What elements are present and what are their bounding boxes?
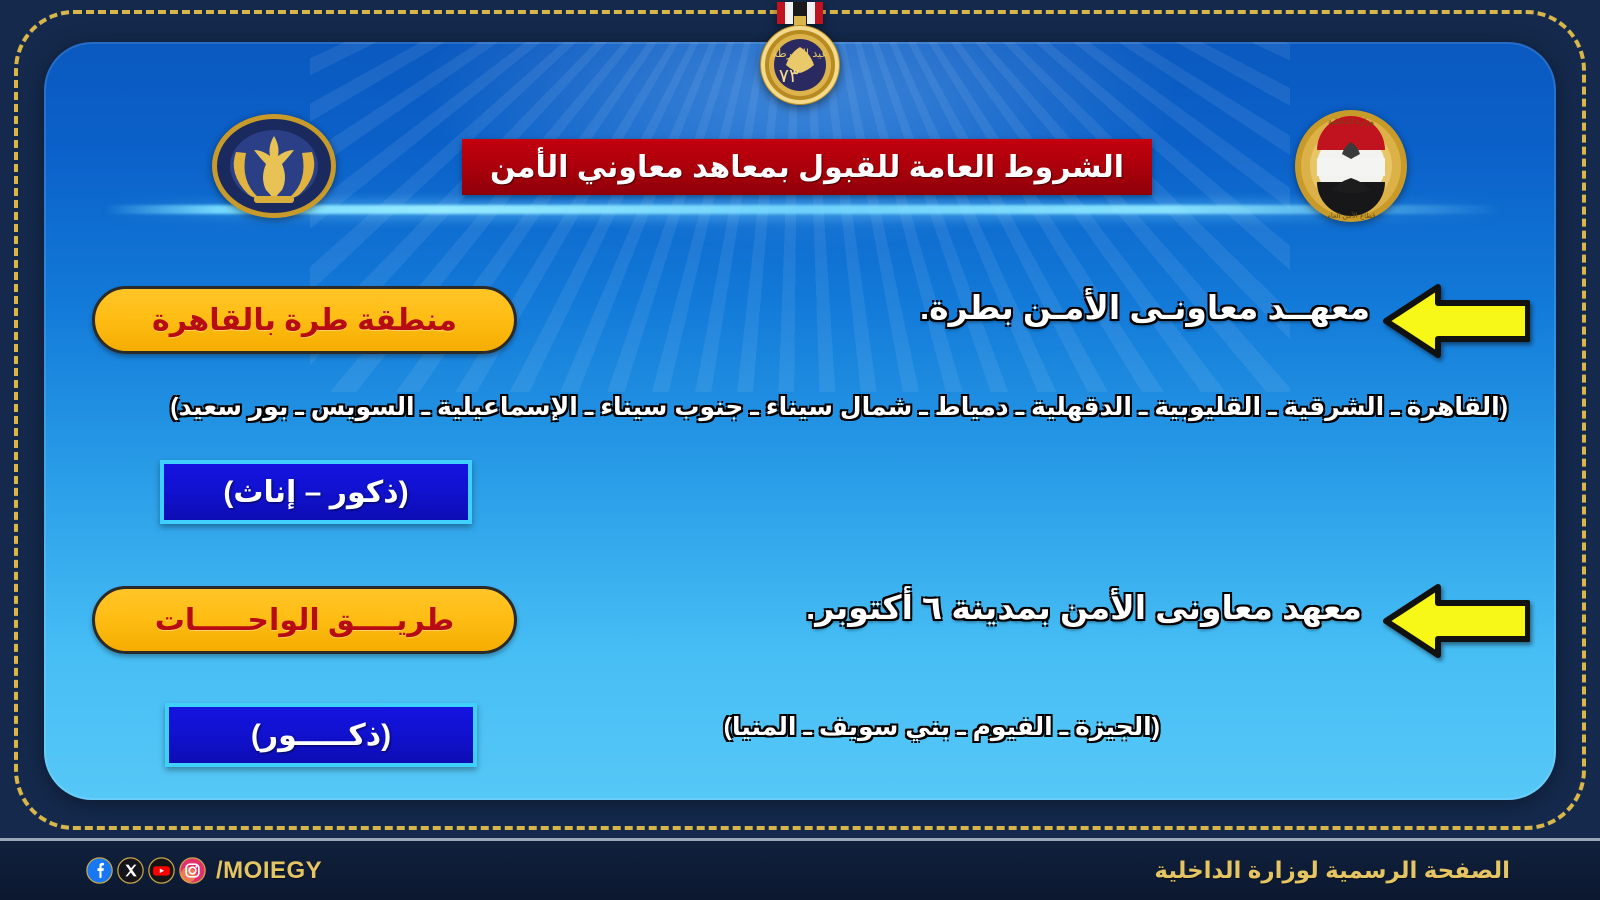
instagram-icon[interactable] <box>179 857 206 884</box>
main-title-banner: الشروط العامة للقبول بمعاهد معاوني الأمن <box>462 139 1152 195</box>
gender-badge-2-label: (ذكـــــور) <box>251 718 391 753</box>
svg-text:وزارة الداخلية: وزارة الداخلية <box>1328 117 1374 126</box>
youtube-icon[interactable] <box>148 857 175 884</box>
x-twitter-icon[interactable] <box>117 857 144 884</box>
governorates-2: (الجيزة ـ الفيوم ـ بني سويف ـ المنيا) <box>724 712 1160 742</box>
institute-title-2: معهد معاونى الأمن بمدينة ٦ أكتوبر. <box>806 588 1362 627</box>
gender-badge-1: (ذكور – إناث) <box>160 460 472 524</box>
poster-root: عيد الشرطة ٧٣ وز <box>0 0 1600 900</box>
governorates-1: (القاهرة ـ الشرقية ـ القليوبية ـ الدقهلي… <box>170 392 1508 422</box>
egypt-police-eagle-emblem-icon <box>210 112 338 220</box>
main-title-text: الشروط العامة للقبول بمعاهد معاوني الأمن <box>490 150 1124 185</box>
gender-badge-2: (ذكـــــور) <box>165 703 477 767</box>
footer-bar: /MOIEGY الصفحة الرسمية لوزارة الداخلية <box>0 838 1600 900</box>
left-arrow-icon <box>1380 283 1530 359</box>
footer-social-group: /MOIEGY <box>86 857 322 885</box>
ministry-of-interior-seal-icon: وزارة الداخلية قطاع الأمن العام <box>1292 108 1410 224</box>
institute-title-1: معهــد معاونـى الأمـن بطرة. <box>920 288 1370 327</box>
svg-text:قطاع الأمن العام: قطاع الأمن العام <box>1327 211 1376 220</box>
svg-text:٧٣: ٧٣ <box>779 65 799 87</box>
svg-text:عيد الشرطة: عيد الشرطة <box>772 47 828 60</box>
footer-handle: /MOIEGY <box>216 857 322 885</box>
police-day-73-medal-icon: عيد الشرطة ٧٣ <box>739 2 861 106</box>
location-pill-2: طريــــق الواحـــــات <box>92 586 517 654</box>
location-pill-1: منطقة طرة بالقاهرة <box>92 286 517 354</box>
facebook-icon[interactable] <box>86 857 113 884</box>
location-pill-2-label: طريــــق الواحـــــات <box>155 603 455 638</box>
left-arrow-icon <box>1380 583 1530 659</box>
location-pill-1-label: منطقة طرة بالقاهرة <box>152 303 457 338</box>
gender-badge-1-label: (ذكور – إناث) <box>223 475 408 510</box>
footer-official-page-text: الصفحة الرسمية لوزارة الداخلية <box>1154 857 1510 884</box>
